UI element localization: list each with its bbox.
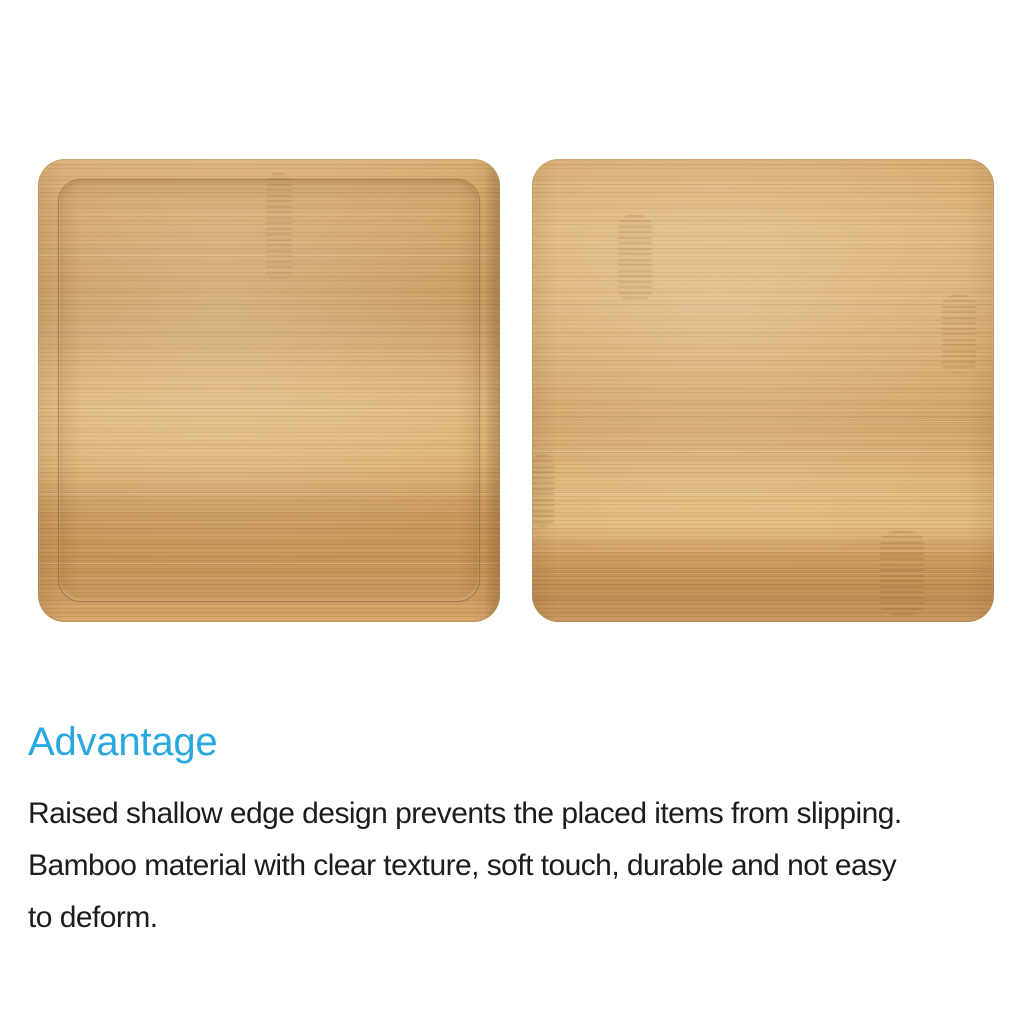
- bamboo-board-back[interactable]: [532, 159, 994, 622]
- bamboo-node-marking: [532, 455, 554, 527]
- bamboo-node-marking: [880, 531, 924, 615]
- bamboo-board-front[interactable]: [38, 159, 500, 622]
- advantage-line: to deform.: [28, 892, 1010, 944]
- bamboo-node-marking: [942, 295, 976, 373]
- laminate-seams: [532, 159, 994, 622]
- advantage-line: Bamboo material with clear texture, soft…: [28, 840, 1010, 892]
- product-detail-page: Advantage Raised shallow edge design pre…: [0, 0, 1024, 1024]
- advantage-section: Advantage Raised shallow edge design pre…: [28, 718, 1010, 944]
- product-photo: [0, 0, 1024, 700]
- bamboo-node-marking: [266, 173, 292, 281]
- advantage-line: Raised shallow edge design prevents the …: [28, 788, 1010, 840]
- advantage-heading: Advantage: [28, 718, 1010, 766]
- advantage-description: Raised shallow edge design prevents the …: [28, 788, 1010, 944]
- bamboo-node-marking: [618, 215, 652, 301]
